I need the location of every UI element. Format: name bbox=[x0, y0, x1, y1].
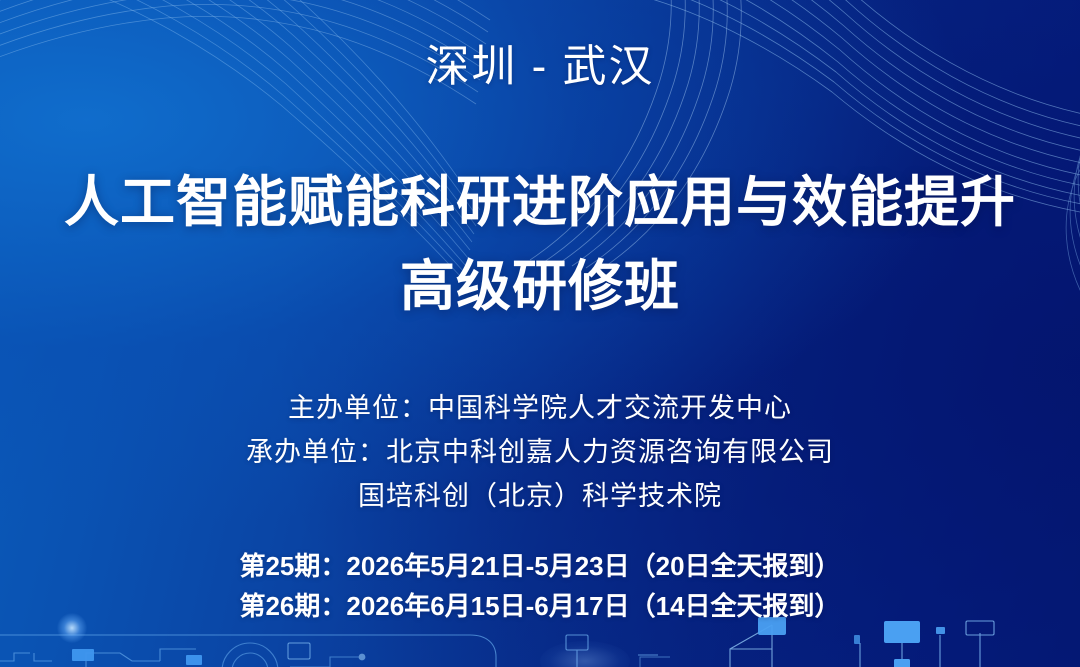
title-line-1: 人工智能赋能科研进阶应用与效能提升 bbox=[0, 160, 1080, 244]
organizer-host: 主办单位：中国科学院人才交流开发中心 bbox=[0, 386, 1080, 430]
poster-canvas: 深圳 - 武汉 人工智能赋能科研进阶应用与效能提升 高级研修班 主办单位：中国科… bbox=[0, 0, 1080, 667]
main-title: 人工智能赋能科研进阶应用与效能提升 高级研修班 bbox=[0, 160, 1080, 328]
session-25: 第25期：2026年5月21日-5月23日（20日全天报到） bbox=[0, 546, 1080, 586]
organizer-coorganizer: 承办单位：北京中科创嘉人力资源咨询有限公司 bbox=[0, 430, 1080, 474]
location-heading: 深圳 - 武汉 bbox=[0, 30, 1080, 94]
session-block: 第25期：2026年5月21日-5月23日（20日全天报到） 第26期：2026… bbox=[0, 546, 1080, 626]
organizer-coorganizer-secondary: 国培科创（北京）科学技术院 bbox=[0, 474, 1080, 518]
poster-content: 深圳 - 武汉 人工智能赋能科研进阶应用与效能提升 高级研修班 主办单位：中国科… bbox=[0, 0, 1080, 667]
organizer-block: 主办单位：中国科学院人才交流开发中心 承办单位：北京中科创嘉人力资源咨询有限公司… bbox=[0, 386, 1080, 518]
session-26: 第26期：2026年6月15日-6月17日（14日全天报到） bbox=[0, 586, 1080, 626]
title-line-2: 高级研修班 bbox=[0, 244, 1080, 328]
